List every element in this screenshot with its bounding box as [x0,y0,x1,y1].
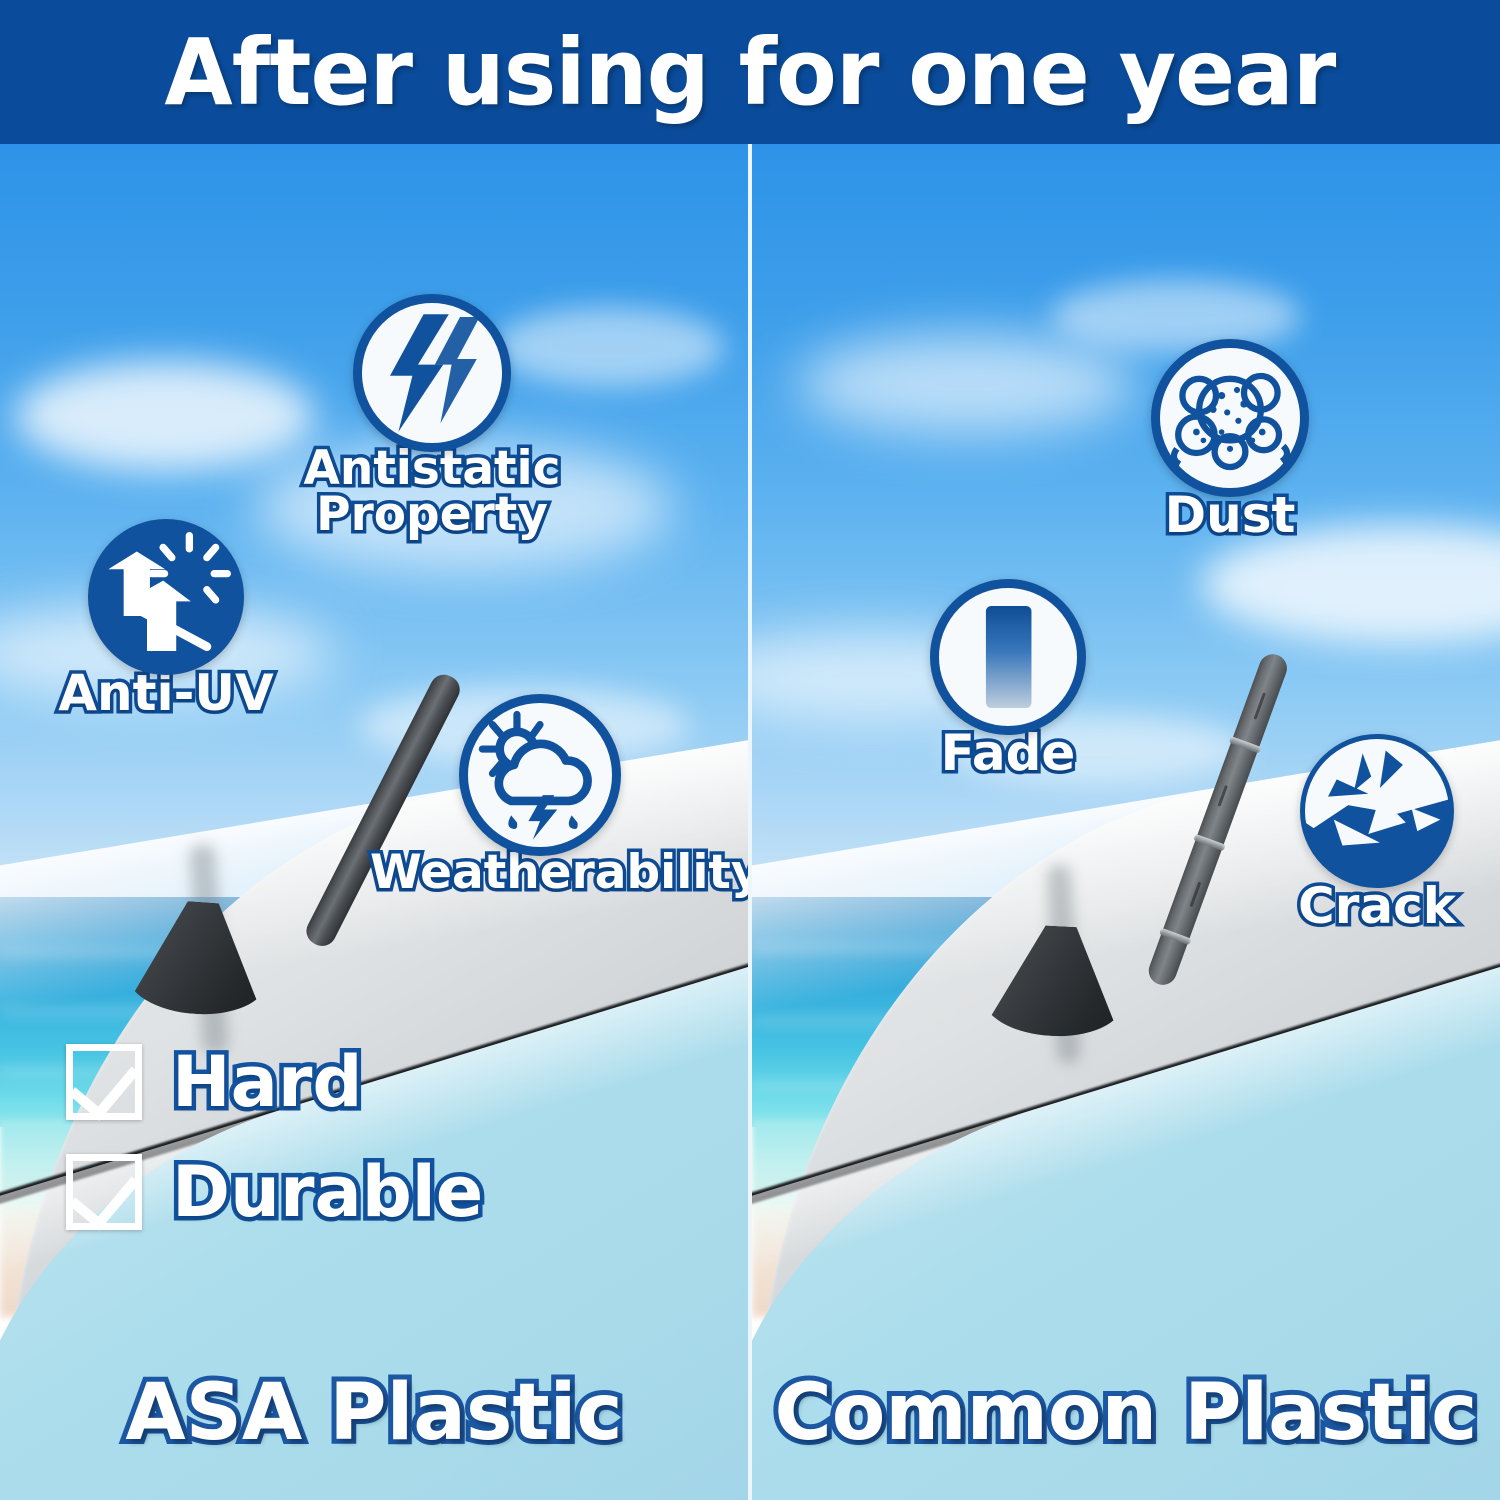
badge-fade: Fade [888,579,1128,778]
badge-anti-uv: Anti-UV [36,519,296,718]
page-title: After using for one year [165,19,1336,126]
antenna-base [981,922,1127,1039]
product-comparison-image: After using for one year [0,0,1500,1500]
checklist-item: Hard [66,1044,483,1120]
fade-gradient-icon [930,579,1086,735]
badge-label: Dust [1110,491,1350,540]
checklist-item: Durable [66,1154,483,1230]
checkbox-checked-icon [66,1154,142,1230]
badge-label: Anti-UV [36,669,296,718]
footer-title-common: Common Plastic [752,1374,1500,1452]
dust-cloud-icon [1151,339,1309,497]
badge-label: Weatherability [370,850,710,896]
badge-crack: Crack [1252,734,1500,931]
badge-label: Fade [888,729,1128,778]
badge-label: Crack [1252,882,1500,931]
header-banner: After using for one year [0,0,1500,144]
checklist-label: Hard [172,1047,362,1117]
panel-common-plastic: Dust Fade [752,144,1500,1500]
panel-asa-plastic: Antistatic Property [0,144,748,1500]
checklist-label: Durable [172,1157,483,1227]
lightning-bolt-icon [353,294,511,452]
antenna-base [124,897,271,1018]
panel-divider [748,144,752,1500]
badge-dust: Dust [1110,339,1350,540]
sun-uv-shield-icon [88,519,244,675]
badge-label: Antistatic Property [302,446,562,538]
footer-title-asa: ASA Plastic [0,1374,748,1452]
badge-antistatic-property: Antistatic Property [302,294,562,538]
badge-weatherability: Weatherability [370,694,710,896]
checkbox-checked-icon [66,1044,142,1120]
sun-cloud-rain-icon [459,694,621,856]
checklist-asa: Hard Durable [66,1044,483,1264]
crack-shatter-icon [1300,734,1454,888]
